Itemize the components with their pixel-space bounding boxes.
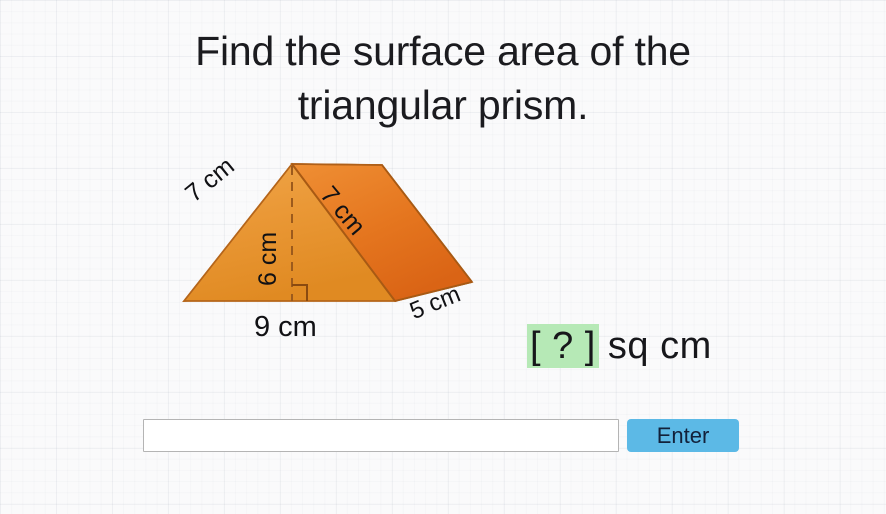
page-title: Find the surface area of the triangular …: [143, 24, 743, 132]
answer-input[interactable]: [143, 419, 619, 452]
question-stage: Find the surface area of the triangular …: [0, 0, 886, 514]
label-height: 6 cm: [254, 232, 283, 286]
answer-blank: [ ? ]: [527, 324, 599, 368]
enter-button[interactable]: Enter: [627, 419, 739, 452]
prism-figure: 7 cm 6 cm 7 cm 5 cm 9 cm: [168, 148, 498, 348]
answer-units: sq cm: [608, 325, 712, 367]
answer-expression: [ ? ]sq cm: [527, 325, 712, 368]
label-base: 9 cm: [254, 311, 317, 344]
prism-edge-ridge: [292, 164, 382, 165]
answer-row: Enter: [143, 419, 740, 452]
